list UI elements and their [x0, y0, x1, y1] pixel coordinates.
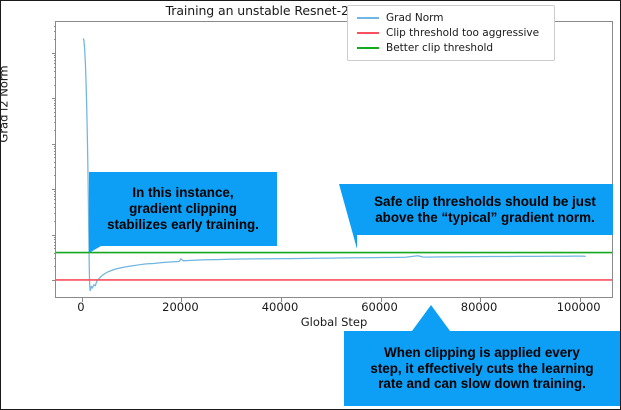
- callout-clipping-tradeoff: When clipping is applied every step, it …: [344, 331, 620, 406]
- callout-tail-icon: [412, 305, 450, 331]
- y-tick-minor-mark: [54, 103, 57, 104]
- callout-line: above the “typical” gradient norm.: [357, 210, 613, 226]
- y-tick-minor-mark: [54, 71, 57, 72]
- y-tick-minor-mark: [54, 108, 57, 109]
- y-tick-mark: [52, 98, 57, 99]
- y-tick-mark: [52, 144, 57, 145]
- callout-text: Safe clip thresholds should be just abov…: [357, 184, 613, 235]
- callout-safe-threshold: Safe clip thresholds should be just abov…: [357, 184, 613, 235]
- y-tick-minor-mark: [54, 196, 57, 197]
- y-tick-minor-mark: [54, 60, 57, 61]
- legend-label: Grad Norm: [386, 12, 444, 24]
- y-tick-minor-mark: [54, 242, 57, 243]
- plot-area: [55, 21, 613, 298]
- legend-item: Clip threshold too aggressive: [354, 25, 548, 40]
- y-tick-minor-mark: [54, 213, 57, 214]
- y-tick-minor-mark: [54, 245, 57, 246]
- y-tick-minor-mark: [54, 122, 57, 123]
- callout-line: gradient clipping: [89, 201, 277, 217]
- y-tick-minor-mark: [54, 148, 57, 149]
- y-tick-minor-mark: [54, 221, 57, 222]
- legend-label: Clip threshold too aggressive: [386, 27, 539, 39]
- y-axis-label: Grad l2 Norm: [0, 65, 11, 142]
- x-tick-label: 20000: [162, 300, 199, 314]
- callout-line: stabilizes early training.: [89, 217, 277, 233]
- legend-label: Better clip threshold: [386, 42, 493, 54]
- callout-line: step, it effectively cuts the learning: [344, 361, 620, 377]
- y-tick-minor-mark: [54, 26, 57, 27]
- y-tick-minor-mark: [54, 100, 57, 101]
- y-tick-minor-mark: [54, 207, 57, 208]
- y-tick-minor-mark: [54, 57, 57, 58]
- y-tick-mark: [52, 280, 57, 281]
- y-tick-minor-mark: [54, 105, 57, 106]
- x-tick-label: 60000: [361, 300, 398, 314]
- y-tick-minor-mark: [54, 167, 57, 168]
- legend-swatch-icon: [357, 17, 379, 19]
- callout-early-training: In this instance, gradient clipping stab…: [89, 172, 277, 246]
- y-tick-minor-mark: [54, 248, 57, 249]
- callout-text: When clipping is applied every step, it …: [344, 331, 620, 406]
- legend-swatch-icon: [357, 47, 379, 49]
- callout-tail-icon: [89, 246, 101, 253]
- y-tick-minor-mark: [54, 146, 57, 147]
- y-tick-minor-mark: [54, 237, 57, 238]
- y-tick-minor-mark: [54, 199, 57, 200]
- y-tick-minor-mark: [54, 239, 57, 240]
- y-tick-minor-mark: [54, 194, 57, 195]
- x-axis-label: Global Step: [55, 315, 613, 329]
- y-tick-minor-mark: [54, 175, 57, 176]
- y-tick-minor-mark: [54, 203, 57, 204]
- chart-canvas: [56, 22, 612, 297]
- screenshot-root: Training an unstable Resnet-200 with gra…: [0, 0, 621, 410]
- y-tick-minor-mark: [54, 258, 57, 259]
- y-tick-minor-mark: [54, 55, 57, 56]
- y-tick-minor-mark: [54, 39, 57, 40]
- callout-text: In this instance, gradient clipping stab…: [89, 172, 277, 246]
- callout-line: Safe clip thresholds should be just: [357, 194, 613, 210]
- y-tick-minor-mark: [54, 85, 57, 86]
- legend-item: Better clip threshold: [354, 40, 548, 55]
- legend-swatch-icon: [357, 32, 379, 34]
- y-tick-minor-mark: [54, 253, 57, 254]
- chart-legend: Grad NormClip threshold too aggressiveBe…: [347, 5, 555, 61]
- callout-tail-icon: [339, 184, 357, 249]
- y-tick-minor-mark: [54, 63, 57, 64]
- matplotlib-figure: Training an unstable Resnet-200 with gra…: [1, 1, 620, 409]
- y-tick-minor-mark: [54, 151, 57, 152]
- y-tick-minor-mark: [54, 116, 57, 117]
- y-tick-minor-mark: [54, 112, 57, 113]
- x-tick-label: 100000: [557, 300, 601, 314]
- y-tick-minor-mark: [54, 162, 57, 163]
- callout-line: In this instance,: [89, 185, 277, 201]
- y-tick-mark: [52, 53, 57, 54]
- y-tick-minor-mark: [54, 266, 57, 267]
- y-tick-minor-mark: [54, 67, 57, 68]
- x-tick-label: 0: [77, 300, 84, 314]
- callout-line: rate and can slow down training.: [344, 376, 620, 392]
- y-tick-mark: [52, 235, 57, 236]
- y-tick-minor-mark: [54, 191, 57, 192]
- y-tick-minor-mark: [54, 154, 57, 155]
- legend-item: Grad Norm: [354, 10, 548, 25]
- y-tick-minor-mark: [54, 77, 57, 78]
- x-tick-label: 40000: [262, 300, 299, 314]
- callout-line: When clipping is applied every: [344, 345, 620, 361]
- y-tick-minor-mark: [54, 130, 57, 131]
- x-tick-label: 80000: [461, 300, 498, 314]
- y-tick-mark: [52, 189, 57, 190]
- y-tick-minor-mark: [54, 31, 57, 32]
- y-tick-minor-mark: [54, 157, 57, 158]
